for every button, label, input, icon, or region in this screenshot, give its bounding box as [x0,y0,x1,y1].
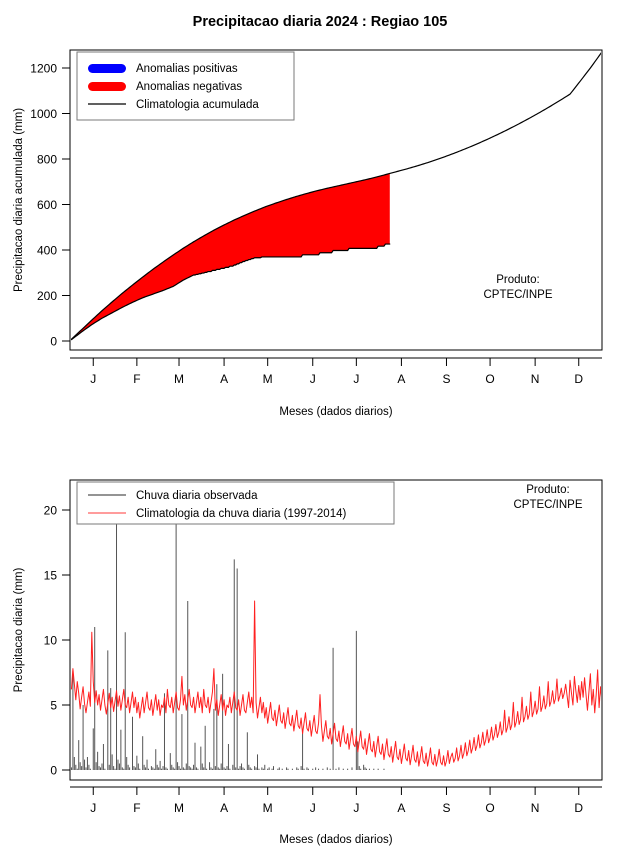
accumulated-y-tick-1200: 1200 [30,62,57,76]
accumulated-y-tick-600: 600 [37,198,57,212]
accumulated-y-tick-400: 400 [37,244,57,258]
climatology-daily-line [71,601,615,766]
daily-y-axis-label: Precipitacao diaria (mm) [13,568,25,693]
daily-x-tick-M: M [263,801,273,815]
page-title: Precipitacao diaria 2024 : Regiao 105 [193,14,448,30]
daily-x-tick-O: O [485,801,494,815]
daily-legend: Chuva diaria observada Climatologia da c… [77,482,394,524]
accumulated-precipitation-panel: Precipitacao diaria 2024 : Regiao 105 02… [0,0,640,425]
accumulated-x-tick-J: J [353,372,359,386]
daily-producer-note: Produto: CPTEC/INPE [513,484,582,511]
accumulated-x-tick-A: A [397,372,405,386]
accumulated-x-tick-A: A [220,372,228,386]
accumulated-y-axis: 020040060080010001200 [30,62,70,349]
daily-y-tick-0: 0 [50,764,57,778]
daily-x-tick-A: A [220,801,228,815]
daily-x-tick-D: D [574,801,583,815]
positive-anomaly-swatch-icon [88,64,126,73]
daily-y-tick-15: 15 [44,569,58,583]
daily-x-tick-N: N [531,801,540,815]
negative-anomaly-area [71,173,389,339]
daily-precipitation-panel: 05101520 JFMAMJJASOND Precipitacao diari… [0,425,640,850]
accumulated-y-tick-1000: 1000 [30,107,57,121]
daily-chart-svg: 05101520 JFMAMJJASOND Precipitacao diari… [0,425,640,850]
observed-daily-impulses [71,497,384,770]
producer-note-line1: Produto: [496,274,539,286]
producer-note-line2: CPTEC/INPE [513,499,582,511]
daily-legend-label-1: Climatologia da chuva diaria (1997-2014) [136,508,346,520]
precipitation-figure: Precipitacao diaria 2024 : Regiao 105 02… [0,0,640,850]
daily-y-axis: 05101520 [44,504,70,778]
daily-x-tick-J: J [310,801,316,815]
daily-x-axis-label: Meses (dados diarios) [279,834,392,846]
accumulated-legend-label-0: Anomalias positivas [136,63,238,75]
daily-x-tick-J: J [90,801,96,815]
accumulated-x-tick-S: S [442,372,450,386]
accumulated-x-tick-J: J [90,372,96,386]
daily-x-tick-M: M [174,801,184,815]
accumulated-legend-label-2: Climatologia acumulada [136,99,259,111]
accumulated-y-tick-800: 800 [37,153,57,167]
accumulated-x-tick-D: D [574,372,583,386]
producer-note-line2: CPTEC/INPE [483,289,552,301]
accumulated-y-axis-label: Precipitacao diaria acumulada (mm) [13,108,25,292]
accumulated-legend: Anomalias positivas Anomalias negativas … [77,52,294,120]
daily-x-axis: JFMAMJJASOND [70,787,602,815]
accumulated-x-tick-J: J [310,372,316,386]
accumulated-legend-label-1: Anomalias negativas [136,81,242,93]
accumulated-y-tick-0: 0 [50,335,57,349]
accumulated-x-axis-label: Meses (dados diarios) [279,406,392,418]
daily-legend-label-0: Chuva diaria observada [136,490,258,502]
accumulated-y-tick-200: 200 [37,289,57,303]
daily-y-tick-5: 5 [50,699,57,713]
accumulated-x-tick-N: N [531,372,540,386]
accumulated-x-tick-O: O [485,372,494,386]
daily-y-tick-10: 10 [44,634,58,648]
daily-x-tick-J: J [353,801,359,815]
daily-y-tick-20: 20 [44,504,58,518]
accumulated-x-tick-F: F [133,372,140,386]
producer-note-line1: Produto: [526,484,569,496]
accumulated-x-tick-M: M [263,372,273,386]
accumulated-x-tick-M: M [174,372,184,386]
daily-x-tick-S: S [442,801,450,815]
negative-anomaly-swatch-icon [88,82,126,91]
accumulated-producer-note: Produto: CPTEC/INPE [483,274,552,301]
daily-x-tick-F: F [133,801,140,815]
accumulated-x-axis: JFMAMJJASOND [70,358,602,386]
daily-x-tick-A: A [397,801,405,815]
accumulated-chart-svg: Precipitacao diaria 2024 : Regiao 105 02… [0,0,640,425]
